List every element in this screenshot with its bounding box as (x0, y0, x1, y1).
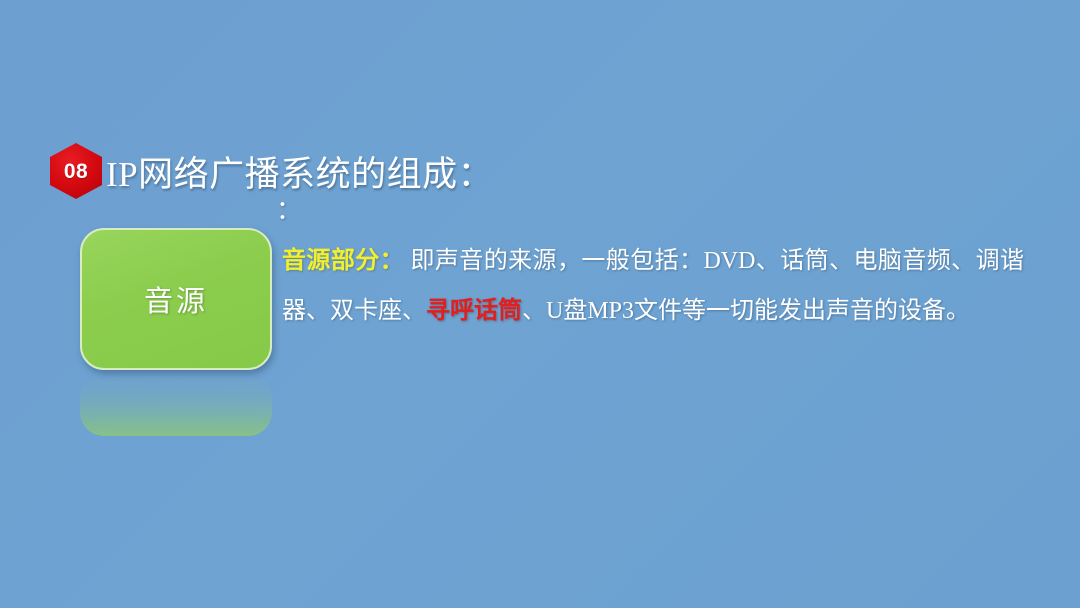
source-box-label: 音源 (144, 278, 208, 320)
source-box: 音源 (80, 228, 272, 370)
body-keyword-source-part: 音源部分： (282, 248, 404, 274)
body-paragraph: 音源部分： 即声音的来源，一般包括：DVD、话筒、电脑音频、调谐器、双卡座、寻呼… (282, 236, 1024, 336)
stray-colon-mark: ： (276, 190, 302, 227)
badge-number-label: 08 (64, 161, 88, 182)
slide-title-row: 08 IP网络广播系统的组成： (50, 143, 493, 199)
source-box-reflection (80, 374, 272, 436)
hexagon-number-badge: 08 (50, 143, 102, 199)
body-keyword-paging-microphone: 寻呼话筒 (426, 298, 522, 324)
page-title: IP网络广播系统的组成： (106, 146, 493, 197)
body-segment-2: 、U盘MP3文件等一切能发出声音的设备。 (522, 298, 970, 324)
source-box-group: 音源 (80, 228, 272, 370)
slide-canvas: 08 IP网络广播系统的组成： ： 音源 音源部分： 即声音的来源，一般包括：D… (0, 0, 1080, 608)
